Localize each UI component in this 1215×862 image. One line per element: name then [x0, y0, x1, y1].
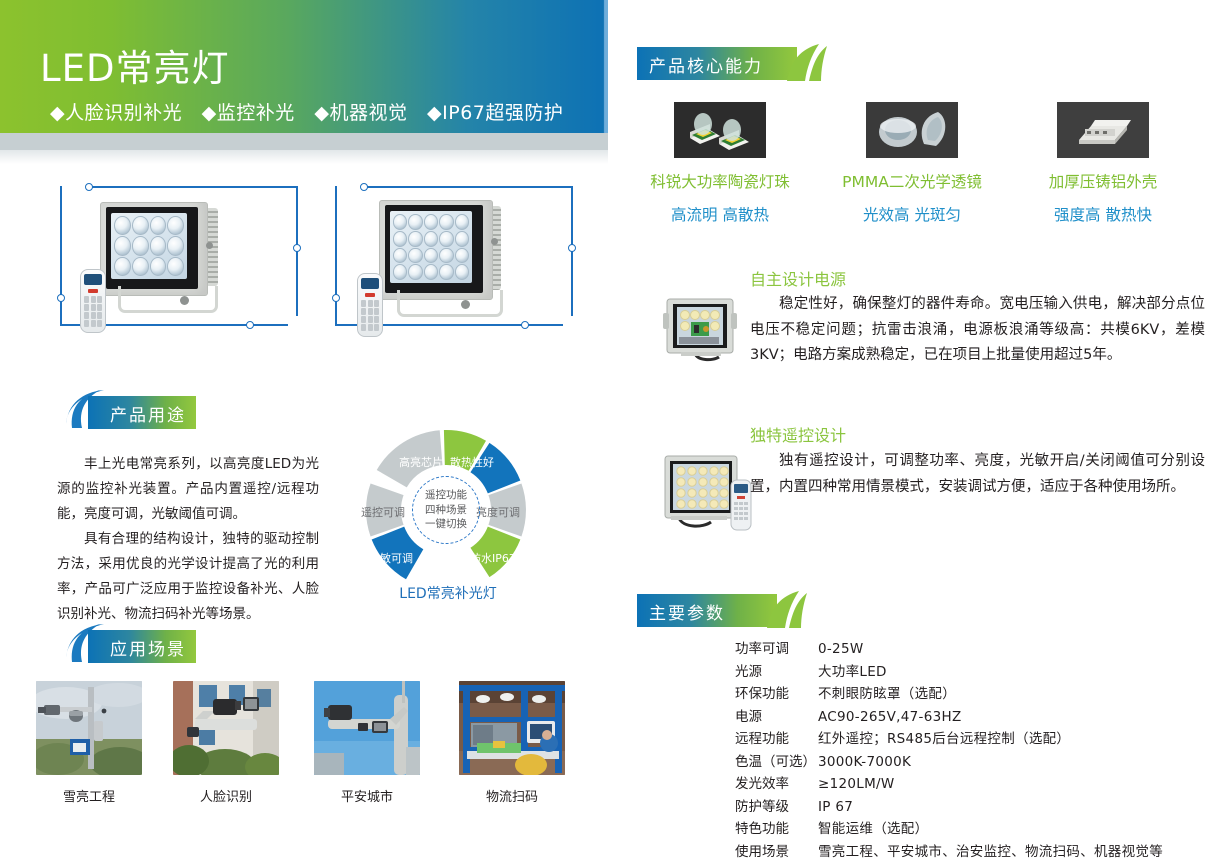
frame-dot-top: [360, 183, 368, 191]
param-value: 智能运维（选配）: [818, 817, 928, 837]
param-value: 雪亮工程、平安城市、治安监控、物流扫码、机器视觉等: [818, 840, 1163, 860]
donut-center-text: 遥控功能 四种场景 一键切换: [412, 476, 480, 544]
page-title: LED常亮灯: [40, 38, 229, 92]
housing-icon: [1057, 102, 1149, 158]
table-row: 电源 AC90-265V,47-63HZ: [735, 705, 1163, 725]
donut-label-0: 高亮芯片: [399, 454, 443, 470]
scene-caption: 雪亮工程: [36, 786, 142, 805]
section-header-core-capability: 产品核心能力: [637, 47, 797, 80]
param-key: 色温（可选）: [735, 750, 818, 770]
application-scene-1: 人脸识别: [173, 681, 279, 805]
led-chip-icon: [674, 102, 766, 158]
param-value: IP 67: [818, 799, 853, 815]
param-value: 不刺眼防眩罩（选配）: [818, 682, 956, 702]
table-row: 使用场景 雪亮工程、平安城市、治安监控、物流扫码、机器视觉等: [735, 840, 1163, 860]
frame-dot-right: [293, 244, 301, 252]
product-use-paragraph-2: 具有合理的结构设计，独特的驱动控制方法，采用优良的光学设计提高了光的利用率，产品…: [57, 527, 319, 627]
remote-control-illustration: [357, 273, 383, 337]
core-feature-subtitle: 高流明 高散热: [627, 203, 813, 225]
section-title: 产品核心能力: [649, 52, 763, 77]
donut-label-4: 光敏可调: [369, 550, 413, 566]
section-title: 应用场景: [110, 635, 186, 660]
header-gray-band: [0, 133, 608, 150]
parameters-table: 功率可调 0-25W 光源 大功率LED 环保功能 不刺眼防眩罩（选配） 电源 …: [735, 637, 1163, 862]
banner-feature-1: ◆监控补光: [202, 102, 295, 124]
application-scene-2: 平安城市: [314, 681, 420, 805]
param-value: 0-25W: [818, 641, 864, 657]
frame-dot-right: [568, 244, 576, 252]
core-feature-title: 加厚压铸铝外壳: [1010, 170, 1196, 192]
product-photo-12led: [60, 180, 298, 332]
remote-control-illustration: [80, 269, 106, 333]
donut-label-2: 亮度可调: [476, 504, 520, 520]
banner-feature-3: ◆IP67超强防护: [427, 102, 563, 124]
table-row: 色温（可选） 3000K-7000K: [735, 750, 1163, 770]
core-feature-1: PMMA二次光学透镜 光效高 光斑匀: [819, 102, 1005, 225]
frame-dot-top: [85, 183, 93, 191]
section-title: 产品用途: [110, 401, 186, 426]
remote-block-title: 独特遥控设计: [750, 422, 846, 446]
scene-image: [36, 681, 142, 775]
donut-label-3: 防水IP67: [470, 550, 516, 566]
scene-image: [459, 681, 565, 775]
param-key: 使用场景: [735, 840, 818, 860]
brochure-page: LED常亮灯 ◆人脸识别补光 ◆监控补光 ◆机器视觉 ◆IP67超强防护: [0, 0, 1215, 851]
header-banner-edge: [600, 0, 608, 133]
product-photo-20led: [335, 180, 573, 332]
power-block-title: 自主设计电源: [750, 266, 846, 290]
core-feature-title: PMMA二次光学透镜: [819, 170, 1005, 192]
param-key: 电源: [735, 705, 818, 725]
donut-center-line-2: 一键切换: [425, 517, 467, 532]
feature-donut-chart: 高亮芯片 散热性好 亮度可调 防水IP67 光敏可调 遥控可调 遥控功能 四种场…: [364, 428, 528, 592]
power-board-lamp-image: [661, 295, 741, 367]
donut-chart-caption: LED常亮补光灯: [368, 583, 528, 603]
core-feature-0: 科锐大功率陶瓷灯珠 高流明 高散热: [627, 102, 813, 225]
param-value: 大功率LED: [818, 660, 887, 680]
frame-dot-bottom: [521, 321, 529, 329]
table-row: 环保功能 不刺眼防眩罩（选配）: [735, 682, 1163, 702]
power-block-text: 稳定性好，确保整灯的器件寿命。宽电压输入供电，解决部分点位电压不稳定问题；抗雷击…: [750, 292, 1205, 369]
banner-feature-list: ◆人脸识别补光 ◆监控补光 ◆机器视觉 ◆IP67超强防护: [50, 98, 576, 125]
application-scene-3: 物流扫码: [459, 681, 565, 805]
remote-lamp-image: [661, 450, 753, 536]
leaf-decoration-right: [765, 591, 807, 630]
param-value: ≥120LM/W: [818, 776, 895, 792]
scene-caption: 平安城市: [314, 786, 420, 805]
donut-label-5: 遥控可调: [361, 504, 405, 520]
donut-center-line-1: 四种场景: [425, 503, 467, 518]
scene-image: [173, 681, 279, 775]
param-value: AC90-265V,47-63HZ: [818, 709, 962, 725]
table-row: 发光效率 ≥120LM/W: [735, 772, 1163, 792]
table-row: 防护等级 IP 67: [735, 795, 1163, 815]
frame-dot-left: [332, 294, 340, 302]
lens-icon: [866, 102, 958, 158]
frame-line-left: [60, 186, 62, 326]
donut-center-line-0: 遥控功能: [425, 488, 467, 503]
scene-caption: 人脸识别: [173, 786, 279, 805]
param-key: 光源: [735, 660, 818, 680]
section-title: 主要参数: [649, 599, 725, 624]
banner-feature-0: ◆人脸识别补光: [50, 102, 182, 124]
param-key: 防护等级: [735, 795, 818, 815]
table-row: 功率可调 0-25W: [735, 637, 1163, 657]
param-key: 发光效率: [735, 772, 818, 792]
param-key: 特色功能: [735, 817, 818, 837]
power-block-paragraph: 稳定性好，确保整灯的器件寿命。宽电压输入供电，解决部分点位电压不稳定问题；抗雷击…: [750, 292, 1205, 369]
frame-dot-bottom: [246, 321, 254, 329]
frame-line-top: [88, 186, 298, 188]
core-feature-subtitle: 强度高 散热快: [1010, 203, 1196, 225]
section-header-application: 应用场景: [88, 630, 196, 663]
param-value: 红外遥控；RS485后台远程控制（选配）: [818, 727, 1070, 747]
core-feature-subtitle: 光效高 光斑匀: [819, 203, 1005, 225]
banner-feature-2: ◆机器视觉: [314, 102, 407, 124]
leaf-decoration-right: [785, 44, 827, 83]
frame-line-left: [335, 186, 337, 326]
scene-image: [314, 681, 420, 775]
section-header-product-use: 产品用途: [88, 396, 196, 429]
remote-block-text: 独有遥控设计，可调整功率、亮度，光敏开启/关闭阈值可分别设置，内置四种常用情景模…: [750, 449, 1205, 500]
frame-line-top: [363, 186, 573, 188]
header-gray-fade: [0, 150, 608, 164]
param-key: 功率可调: [735, 637, 818, 657]
section-header-main-params: 主要参数: [637, 594, 777, 627]
table-row: 远程功能 红外遥控；RS485后台远程控制（选配）: [735, 727, 1163, 747]
param-key: 环保功能: [735, 682, 818, 702]
frame-dot-left: [57, 294, 65, 302]
remote-block-paragraph: 独有遥控设计，可调整功率、亮度，光敏开启/关闭阈值可分别设置，内置四种常用情景模…: [750, 449, 1205, 500]
product-use-text: 丰上光电常亮系列，以高亮度LED为光源的监控补光装置。产品内置遥控/远程功能，亮…: [57, 452, 319, 627]
table-row: 光源 大功率LED: [735, 660, 1163, 680]
donut-label-1: 散热性好: [450, 454, 494, 470]
param-value: 3000K-7000K: [818, 754, 911, 770]
core-feature-2: 加厚压铸铝外壳 强度高 散热快: [1010, 102, 1196, 225]
scene-caption: 物流扫码: [459, 786, 565, 805]
param-key: 远程功能: [735, 727, 818, 747]
application-scene-0: 雪亮工程: [36, 681, 142, 805]
product-use-paragraph-1: 丰上光电常亮系列，以高亮度LED为光源的监控补光装置。产品内置遥控/远程功能，亮…: [57, 452, 319, 527]
core-feature-title: 科锐大功率陶瓷灯珠: [627, 170, 813, 192]
table-row: 特色功能 智能运维（选配）: [735, 817, 1163, 837]
